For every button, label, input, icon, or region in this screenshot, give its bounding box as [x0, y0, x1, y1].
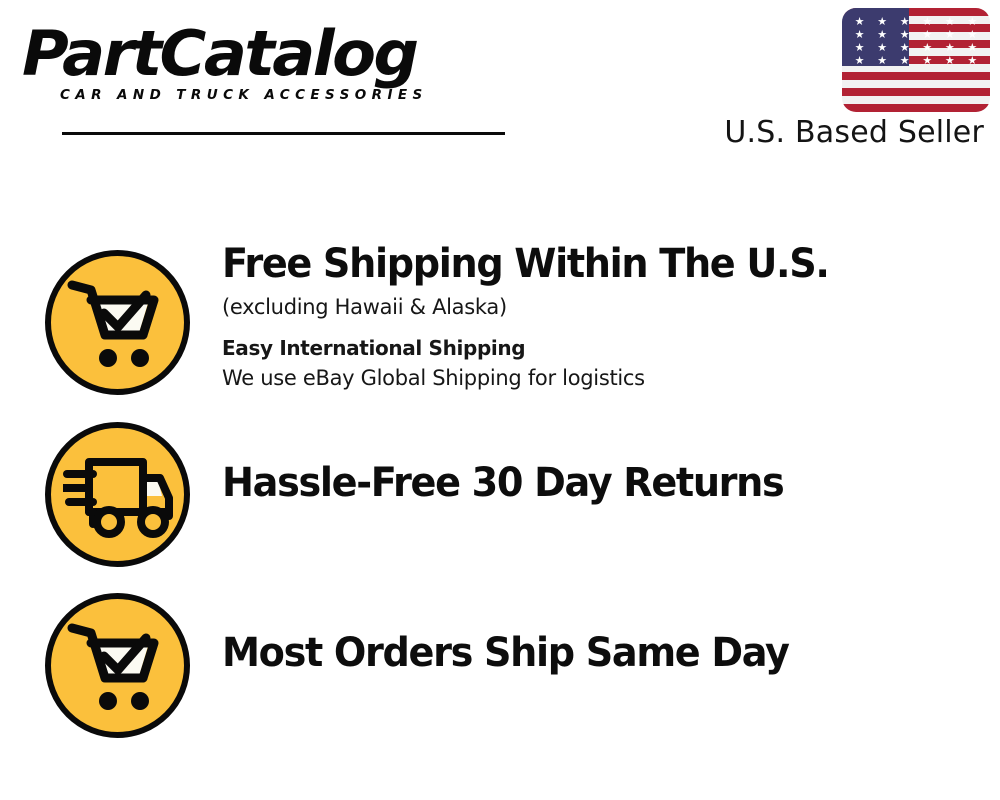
benefit-headline: Free Shipping Within The U.S.: [222, 240, 957, 288]
benefit-text-block: Most Orders Ship Same Day: [222, 629, 992, 677]
benefit-row: Free Shipping Within The U.S. (excluding…: [0, 240, 1000, 410]
benefits-list: Free Shipping Within The U.S. (excluding…: [0, 0, 1000, 800]
benefit-text-block: Hassle-Free 30 Day Returns: [222, 459, 992, 507]
benefit-subline-international: Easy International Shipping: [222, 334, 992, 362]
shopping-cart-check-icon: [45, 250, 190, 395]
benefit-row: Most Orders Ship Same Day: [0, 585, 1000, 745]
benefit-subline-exclusions: (excluding Hawaii & Alaska): [222, 292, 992, 322]
benefit-text-block: Free Shipping Within The U.S. (excluding…: [222, 240, 992, 393]
shopping-cart-check-icon: [45, 593, 190, 738]
benefit-row: Hassle-Free 30 Day Returns: [0, 415, 1000, 575]
benefit-headline: Hassle-Free 30 Day Returns: [222, 459, 957, 507]
benefit-subline-logistics: We use eBay Global Shipping for logistic…: [222, 363, 992, 393]
benefit-headline: Most Orders Ship Same Day: [222, 629, 957, 677]
delivery-truck-icon: [45, 422, 190, 567]
